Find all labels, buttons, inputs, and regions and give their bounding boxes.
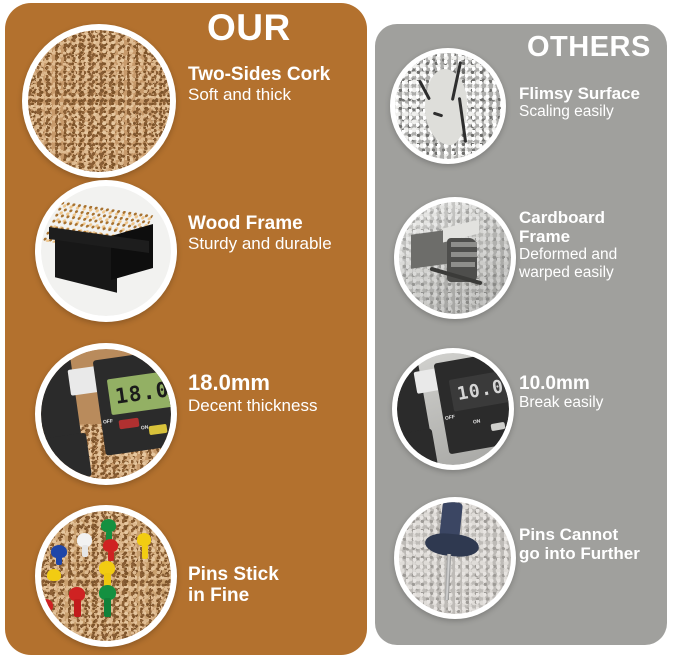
- deformed-cardboard-frame-photo: [394, 197, 516, 319]
- others-row-1-text: Flimsy Surface Scaling easily: [519, 84, 669, 121]
- our-row-4-heading-line2: in Fine: [188, 585, 364, 606]
- others-row-2-subtext-line2: warped easily: [519, 264, 679, 282]
- our-row-2-subtext: Sturdy and durable: [188, 234, 364, 254]
- our-row-3-heading: 18.0mm: [188, 371, 366, 396]
- our-row-2-text: Wood Frame Sturdy and durable: [188, 213, 364, 254]
- others-row-2-text: Cardboard Frame Deformed and warped easi…: [519, 208, 679, 283]
- others-row-3-text: 10.0mm Break easily: [519, 373, 669, 413]
- caliper-measuring-thin-board-photo: 10.0 OFF ON: [392, 348, 514, 470]
- others-row-3-subtext: Break easily: [519, 394, 669, 412]
- our-row-1-heading: Two-Sides Cork: [188, 64, 360, 85]
- wood-frame-corner-photo: [35, 180, 177, 322]
- our-row-3-text: 18.0mm Decent thickness: [188, 371, 366, 416]
- others-row-2-heading-line2: Frame: [519, 227, 679, 246]
- others-row-4-heading-line2: go into Further: [519, 544, 675, 563]
- others-row-1-heading: Flimsy Surface: [519, 84, 669, 103]
- others-row-1-subtext: Scaling easily: [519, 103, 669, 121]
- our-row-4-text: Pins Stick in Fine: [188, 564, 364, 607]
- caliper-measuring-thick-board-photo: 18.0 OFF ON: [35, 343, 177, 485]
- others-row-3-heading: 10.0mm: [519, 373, 669, 394]
- others-row-4-text: Pins Cannot go into Further: [519, 525, 675, 563]
- others-row-2-subtext: Deformed and: [519, 246, 679, 264]
- our-panel-title: OUR: [207, 9, 291, 46]
- pin-not-going-in-photo: [394, 497, 516, 619]
- others-row-2-heading: Cardboard: [519, 208, 679, 227]
- cracked-flimsy-surface-photo: [390, 48, 506, 164]
- others-row-4-heading: Pins Cannot: [519, 525, 675, 544]
- our-row-1-subtext: Soft and thick: [188, 85, 360, 105]
- push-pins-in-corkboard-photo: [35, 505, 177, 647]
- others-panel-title: OTHERS: [527, 33, 651, 62]
- cork-surface-photo: [22, 24, 176, 178]
- our-row-2-heading: Wood Frame: [188, 213, 364, 234]
- our-row-3-subtext: Decent thickness: [188, 396, 366, 416]
- our-row-1-text: Two-Sides Cork Soft and thick: [188, 64, 360, 105]
- our-row-4-heading: Pins Stick: [188, 564, 364, 585]
